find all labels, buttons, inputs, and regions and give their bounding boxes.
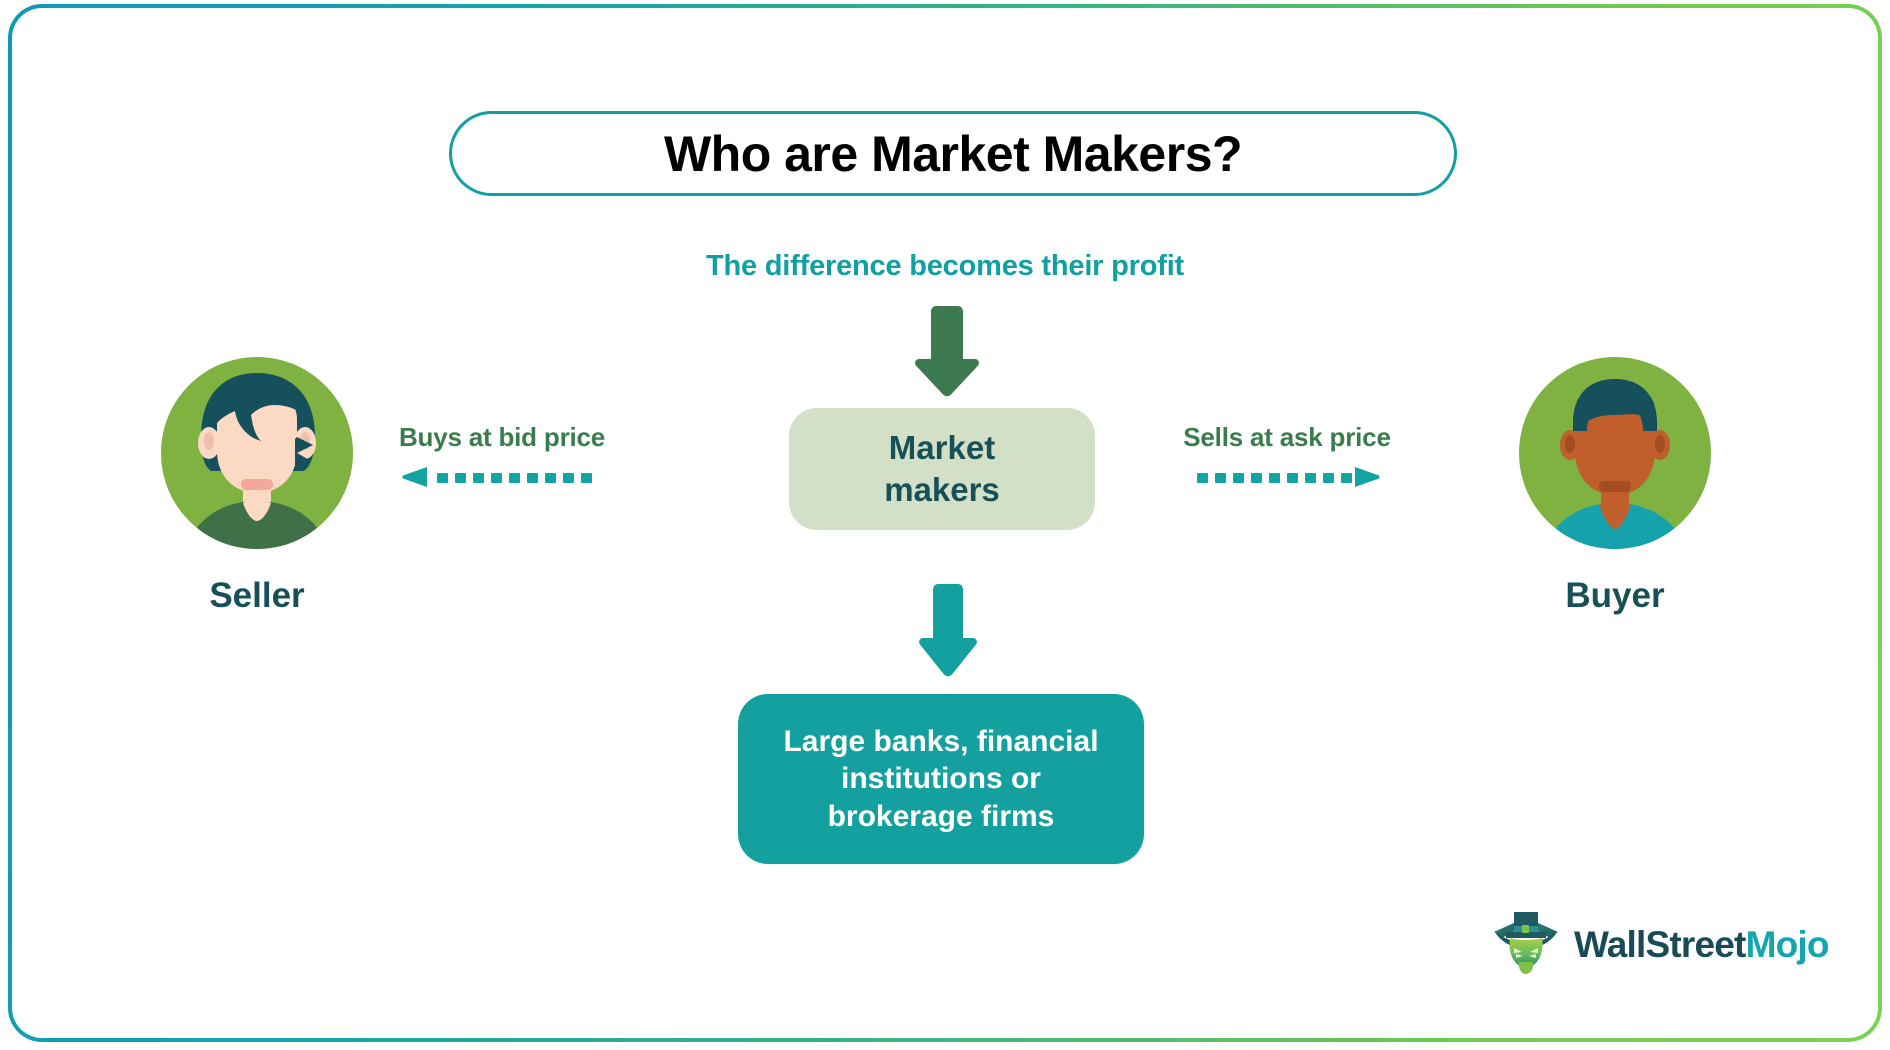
center-node-line-1: Market <box>889 427 995 469</box>
person-buyer: Buyer <box>1515 353 1715 616</box>
page-title-pill: Who are Market Makers? <box>449 111 1457 196</box>
flow-sells-at-ask-price: Sells at ask price <box>1137 422 1437 494</box>
infographic-frame: Who are Market Makers? The difference be… <box>8 4 1882 1042</box>
wallstreetmojo-logo[interactable]: WallStreetMojo <box>1490 906 1829 983</box>
dotted-arrow-left-icon <box>352 465 652 494</box>
person-seller: Seller <box>157 353 357 616</box>
bottom-node-line-2: institutions or <box>841 760 1041 797</box>
dotted-arrow-right-icon <box>1137 465 1437 494</box>
center-node-market-makers: Market makers <box>789 408 1095 530</box>
page-title: Who are Market Makers? <box>664 125 1242 183</box>
person-seller-label: Seller <box>157 576 357 616</box>
bottom-node-line-1: Large banks, financial <box>783 723 1098 760</box>
bottom-node-institutions: Large banks, financial institutions or b… <box>738 694 1144 864</box>
center-node-line-2: makers <box>884 469 1000 511</box>
avatar-female-icon <box>157 353 357 558</box>
bottom-node-line-3: brokerage firms <box>828 798 1055 835</box>
wallstreetmojo-bull-icon <box>1490 906 1562 983</box>
infographic-canvas: Who are Market Makers? The difference be… <box>12 8 1878 1038</box>
flow-right-label: Sells at ask price <box>1137 422 1437 453</box>
person-buyer-label: Buyer <box>1515 576 1715 616</box>
avatar-male-icon <box>1515 353 1715 558</box>
subtitle-text: The difference becomes their profit <box>12 250 1878 283</box>
logo-word-wallstreet: WallStreet <box>1574 924 1746 965</box>
arrow-down-icon-top <box>909 306 985 403</box>
arrow-down-icon-bottom <box>915 584 981 683</box>
logo-wordmark: WallStreetMojo <box>1574 924 1829 966</box>
flow-left-label: Buys at bid price <box>352 422 652 453</box>
logo-word-mojo: Mojo <box>1746 924 1829 965</box>
flow-buys-at-bid-price: Buys at bid price <box>352 422 652 494</box>
